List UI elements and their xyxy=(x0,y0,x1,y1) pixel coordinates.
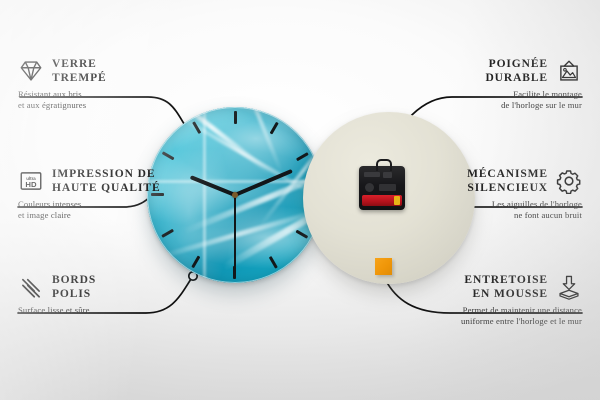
feature-title: VERRE TREMPÉ xyxy=(52,57,107,85)
feature-title-line1: ENTRETOISE xyxy=(464,274,548,286)
feature-title: POIGNÉE DURABLE xyxy=(485,57,548,85)
feature-header: MÉCANISME SILENCIEUX xyxy=(392,167,582,195)
mechanism-detail xyxy=(365,183,374,192)
feature-title-line1: IMPRESSION DE xyxy=(52,168,155,180)
feature-subtitle: Surface lisse et sûre xyxy=(18,305,193,316)
feature-sub-line2: et aux égratignures xyxy=(18,100,86,110)
feature-sub-line2: de l'horloge sur le mur xyxy=(501,100,582,110)
feature-subtitle: Facilite le montage de l'horloge sur le … xyxy=(397,89,582,111)
feature-title-line1: MÉCANISME xyxy=(467,168,548,180)
feature-bords-polis: BORDS POLIS Surface lisse et sûre xyxy=(18,273,193,316)
feature-sub-line1: Les aiguilles de l'horloge xyxy=(492,199,582,209)
feature-sub-line1: Couleurs intenses xyxy=(18,199,81,209)
feature-title: IMPRESSION DE HAUTE QUALITÉ xyxy=(52,167,161,195)
feature-title-line2: DURABLE xyxy=(485,72,548,84)
feature-title-line2: SILENCIEUX xyxy=(467,182,548,194)
feature-subtitle: Les aiguilles de l'horloge ne font aucun… xyxy=(392,199,582,221)
clock-pivot xyxy=(232,192,238,198)
feature-title: ENTRETOISE EN MOUSSE xyxy=(464,273,548,301)
diamond-icon xyxy=(18,58,44,84)
feature-header: BORDS POLIS xyxy=(18,273,193,301)
polished-edges-icon xyxy=(18,274,44,300)
feature-title-line1: VERRE xyxy=(52,58,97,70)
feature-title-line2: TREMPÉ xyxy=(52,72,107,84)
feature-title-line2: HAUTE QUALITÉ xyxy=(52,182,161,194)
feature-header: ENTRETOISE EN MOUSSE xyxy=(367,273,582,301)
gear-icon xyxy=(556,168,582,194)
product-infographic: VERRE TREMPÉ Résistant aux bris et aux é… xyxy=(0,0,600,400)
feature-header: ultra HD IMPRESSION DE HAUTE QUALITÉ xyxy=(18,167,203,195)
feature-sub-line1: Surface lisse et sûre xyxy=(18,305,90,315)
feature-title-line1: POIGNÉE xyxy=(489,58,548,70)
feature-sub-line1: Permet de maintenir une distance xyxy=(463,305,582,315)
feature-verre-trempe: VERRE TREMPÉ Résistant aux bris et aux é… xyxy=(18,57,193,111)
feature-poignee-durable: POIGNÉE DURABLE Facilite le montage de l… xyxy=(397,57,582,111)
foam-spacer-icon xyxy=(556,274,582,300)
feature-title: BORDS POLIS xyxy=(52,273,96,301)
ultra-hd-icon: ultra HD xyxy=(18,168,44,194)
svg-text:HD: HD xyxy=(25,180,37,189)
mechanism-detail xyxy=(383,172,392,178)
feature-title-line2: POLIS xyxy=(52,288,91,300)
feature-subtitle: Résistant aux bris et aux égratignures xyxy=(18,89,193,111)
feature-sub-line1: Facilite le montage xyxy=(513,89,582,99)
picture-hanger-icon xyxy=(556,58,582,84)
feature-impression-haute-qualite: ultra HD IMPRESSION DE HAUTE QUALITÉ Cou… xyxy=(18,167,203,221)
feature-header: POIGNÉE DURABLE xyxy=(397,57,582,85)
feature-sub-line1: Résistant aux bris xyxy=(18,89,82,99)
hanger-loop-icon xyxy=(376,159,392,171)
feature-entretoise-en-mousse: ENTRETOISE EN MOUSSE Permet de maintenir… xyxy=(367,273,582,327)
feature-header: VERRE TREMPÉ xyxy=(18,57,193,85)
feature-title-line2: EN MOUSSE xyxy=(472,288,548,300)
feature-mecanisme-silencieux: MÉCANISME SILENCIEUX Les aiguilles de l'… xyxy=(392,167,582,221)
feature-title-line1: BORDS xyxy=(52,274,96,286)
feature-subtitle: Permet de maintenir une distance uniform… xyxy=(367,305,582,327)
pattern-crossline xyxy=(203,107,206,283)
mechanism-detail xyxy=(364,172,380,177)
feature-sub-line2: ne font aucun bruit xyxy=(514,210,582,220)
feature-title: MÉCANISME SILENCIEUX xyxy=(467,167,548,195)
feature-sub-line2: uniforme entre l'horloge et le mur xyxy=(461,316,582,326)
feature-sub-line2: et image claire xyxy=(18,210,71,220)
feature-subtitle: Couleurs intenses et image claire xyxy=(18,199,203,221)
